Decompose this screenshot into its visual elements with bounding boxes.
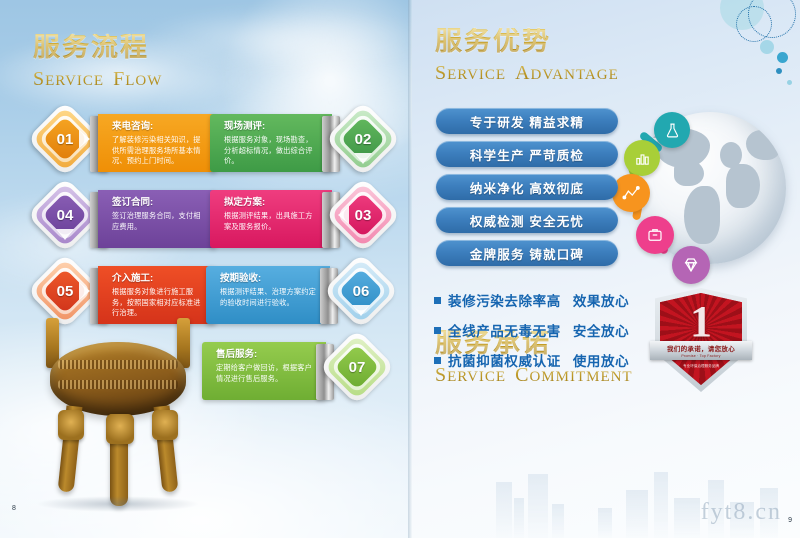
step-banner-06: 按期验收: 根据测评结果、治理方案约定的验收时间进行验收。: [206, 266, 330, 324]
step-banner-01: 来电咨询: 了解装修污染相关知识，提供所需治理服务场所基本情况、预约上门时间。: [98, 114, 216, 172]
commitment-line: 装修污染去除率高 效果放心: [434, 290, 629, 310]
watermark: fyt8.cn: [701, 499, 782, 526]
flow-step-03[interactable]: 拟定方案: 根据测评结果，出具施工方案及服务报价。 03: [210, 184, 396, 256]
flow-step-07[interactable]: 售后服务: 定期给客户做回访，根据客户情况进行售后服务。 07: [202, 336, 396, 408]
advantage-pill[interactable]: 纳米净化 高效彻底: [436, 174, 618, 200]
step-banner-05: 介入施工: 根据服务对象进行施工服务，按照国家相对应标准进行治理。: [98, 266, 216, 324]
commitment-text-right: 安全放心: [573, 320, 629, 340]
step-number: 05: [38, 264, 92, 318]
step-body: 定期给客户做回访，根据客户情况进行售后服务。: [216, 363, 314, 384]
step-title: 来电咨询:: [112, 120, 204, 133]
step-number: 04: [38, 188, 92, 242]
flow-step-04[interactable]: 04 签订合同: 签订治理服务合同，支付相应费用。: [38, 184, 218, 256]
commitment-text-right: 使用放心: [573, 350, 629, 370]
step-number: 07: [330, 340, 384, 394]
bronze-ding-vessel: [28, 318, 208, 518]
step-title: 介入施工:: [112, 272, 204, 285]
right-page: 服务优势 SERVICEADVANTAGE: [412, 0, 800, 538]
step-badge-03: 03: [336, 188, 390, 242]
advantage-pill-list: 专于研发 精益求精 科学生产 严苛质检 纳米净化 高效彻底 权威检测 安全无忧 …: [436, 108, 636, 273]
step-banner-04: 签订合同: 签订治理服务合同，支付相应费用。: [98, 190, 216, 248]
shield-ribbon-cn: 我们的承诺，请您放心: [667, 343, 735, 353]
step-body: 根据测评结果，出具施工方案及服务报价。: [224, 211, 320, 232]
bubble-decoration: [690, 0, 800, 90]
step-badge-05: 05: [38, 264, 92, 318]
diamond-icon[interactable]: [672, 246, 710, 284]
step-number: 02: [336, 112, 390, 166]
step-number: 06: [334, 264, 388, 318]
brochure-spread: 服务流程 SERVICEFLOW 01 来电咨询: 了解装修污染相关知识，提供所…: [0, 0, 800, 538]
flow-step-01[interactable]: 01 来电咨询: 了解装修污染相关知识，提供所需治理服务场所基本情况、预约上门时…: [38, 108, 218, 180]
left-page: 服务流程 SERVICEFLOW 01 来电咨询: 了解装修污染相关知识，提供所…: [0, 0, 412, 538]
shield-ribbon-en: Promise · Top Factory: [681, 354, 720, 358]
commitment-line: 全线产品无毒无害 安全放心: [434, 320, 629, 340]
briefcase-icon[interactable]: [636, 216, 674, 254]
number-one-shield-badge: 1 我们的承诺，请您放心 Promise · Top Factory 专业环保治…: [655, 288, 747, 392]
step-badge-02: 02: [336, 112, 390, 166]
step-body: 了解装修污染相关知识，提供所需治理服务场所基本情况、预约上门时间。: [112, 135, 204, 167]
bullet-square-icon: [434, 357, 441, 364]
advantage-pill[interactable]: 科学生产 严苛质检: [436, 141, 618, 167]
heading-chinese: 服务优势: [435, 28, 619, 55]
service-advantage-heading: 服务优势 SERVICEADVANTAGE: [435, 28, 619, 85]
step-banner-02: 现场测评: 根据服务对象，现场勘查，分析超标情况，做出综合评价。: [210, 114, 332, 172]
step-title: 签订合同:: [112, 196, 204, 209]
step-badge-07: 07: [330, 340, 384, 394]
service-flow-heading: 服务流程 SERVICEFLOW: [33, 34, 162, 91]
advantage-pill[interactable]: 权威检测 安全无忧: [436, 207, 618, 233]
commitment-text-left: 全线产品无毒无害: [448, 320, 561, 340]
step-badge-04: 04: [38, 188, 92, 242]
step-body: 签订治理服务合同，支付相应费用。: [112, 211, 204, 232]
step-title: 售后服务:: [216, 348, 314, 361]
step-body: 根据服务对象进行施工服务，按照国家相对应标准进行治理。: [112, 287, 204, 319]
shield-footer-text: 专业环保治理服务品牌: [667, 364, 735, 369]
step-number: 01: [38, 112, 92, 166]
heading-chinese: 服务流程: [33, 34, 162, 61]
step-body: 根据服务对象，现场勘查，分析超标情况，做出综合评价。: [224, 135, 320, 167]
step-body: 根据测评结果、治理方案约定的验收时间进行验收。: [220, 287, 318, 308]
step-badge-06: 06: [334, 264, 388, 318]
page-number-right: 9: [788, 517, 792, 524]
shield-rank-number: 1: [655, 300, 747, 344]
flow-step-06[interactable]: 按期验收: 根据测评结果、治理方案约定的验收时间进行验收。 06: [206, 260, 396, 332]
flask-icon[interactable]: [654, 112, 690, 148]
commitment-text-left: 装修污染去除率高: [448, 290, 561, 310]
step-number: 03: [336, 188, 390, 242]
step-title: 现场测评:: [224, 120, 320, 133]
commitment-text-left: 抗菌抑菌权威认证: [448, 350, 561, 370]
commitment-line: 抗菌抑菌权威认证 使用放心: [434, 350, 629, 370]
advantage-pill[interactable]: 金牌服务 铸就口碑: [436, 240, 618, 266]
heading-english: SERVICEFLOW: [33, 68, 162, 91]
page-number-left: 8: [12, 505, 16, 512]
step-title: 拟定方案:: [224, 196, 320, 209]
step-banner-03: 拟定方案: 根据测评结果，出具施工方案及服务报价。: [210, 190, 332, 248]
step-banner-07: 售后服务: 定期给客户做回访，根据客户情况进行售后服务。: [202, 342, 326, 400]
step-title: 按期验收:: [220, 272, 318, 285]
shield-ribbon: 我们的承诺，请您放心 Promise · Top Factory: [650, 341, 752, 360]
commitment-text-right: 效果放心: [573, 290, 629, 310]
heading-english: SERVICEADVANTAGE: [435, 62, 619, 85]
commitment-list: 装修污染去除率高 效果放心 全线产品无毒无害 安全放心 抗菌抑菌权威认证 使用放…: [434, 290, 629, 380]
advantage-pill[interactable]: 专于研发 精益求精: [436, 108, 618, 134]
bullet-square-icon: [434, 327, 441, 334]
step-badge-01: 01: [38, 112, 92, 166]
flow-step-02[interactable]: 现场测评: 根据服务对象，现场勘查，分析超标情况，做出综合评价。 02: [210, 108, 396, 180]
bullet-square-icon: [434, 297, 441, 304]
